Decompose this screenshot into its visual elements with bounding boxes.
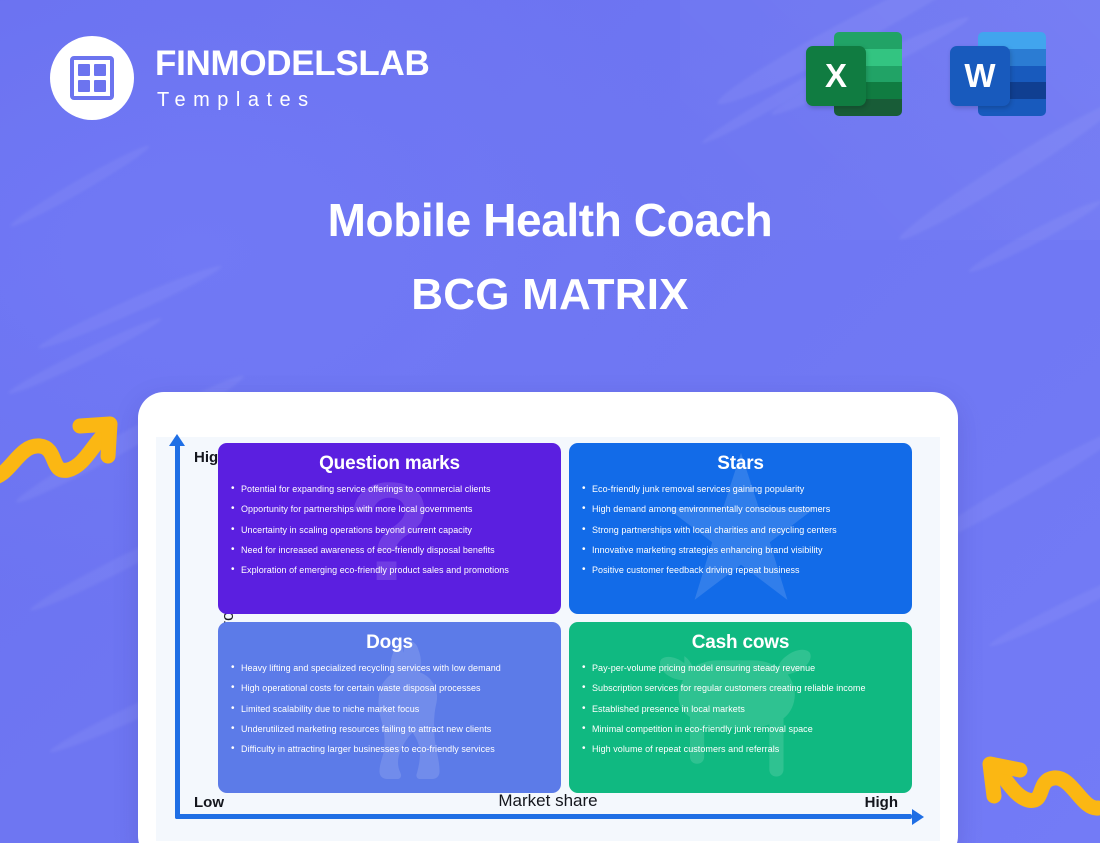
x-axis-arrowhead-icon (912, 809, 924, 825)
quadrant-bullet-list: Pay-per-volume pricing model ensuring st… (581, 663, 900, 755)
list-item: Exploration of emerging eco-friendly pro… (230, 565, 549, 575)
list-item: High volume of repeat customers and refe… (581, 744, 900, 754)
quadrant-bullet-list: Potential for expanding service offering… (230, 484, 549, 576)
brand-logo[interactable]: FINMODELSLAB Templates (50, 36, 429, 120)
list-item: Positive customer feedback driving repea… (581, 565, 900, 575)
quadrant-stars[interactable]: Stars Eco-friendly junk removal services… (569, 443, 912, 614)
list-item: Opportunity for partnerships with more l… (230, 504, 549, 514)
list-item: Strong partnerships with local charities… (581, 525, 900, 535)
brand-tagline: Templates (155, 90, 429, 110)
quadrants-grid: ? Question marks Potential for expanding… (218, 443, 912, 793)
x-axis-line (175, 814, 912, 819)
curvy-arrow-down-left-icon (976, 736, 1100, 831)
word-badge-letter: W (950, 46, 1010, 106)
quadrant-cash-cows[interactable]: Cash cows Pay-per-volume pricing model e… (569, 622, 912, 793)
list-item: High operational costs for certain waste… (230, 683, 549, 693)
list-item: Minimal competition in eco-friendly junk… (581, 724, 900, 734)
list-item: Subscription services for regular custom… (581, 683, 900, 693)
quadrant-title: Cash cows (581, 632, 900, 654)
curvy-arrow-up-right-icon (0, 404, 128, 499)
matrix-plot-area: High Low High Market growth Market share… (156, 437, 940, 841)
page-subtitle: BCG MATRIX (0, 270, 1100, 320)
title-block: Mobile Health Coach BCG MATRIX (0, 196, 1100, 320)
brush-stroke (986, 561, 1100, 652)
x-axis-label: Market share (156, 791, 940, 811)
list-item: High demand among environmentally consci… (581, 504, 900, 514)
list-item: Uncertainty in scaling operations beyond… (230, 525, 549, 535)
list-item: Difficulty in attracting larger business… (230, 744, 549, 754)
excel-badge-letter: X (806, 46, 866, 106)
list-item: Heavy lifting and specialized recycling … (230, 663, 549, 673)
quadrant-title: Dogs (230, 632, 549, 654)
quadrant-bullet-list: Heavy lifting and specialized recycling … (230, 663, 549, 755)
quadrant-question-marks[interactable]: ? Question marks Potential for expanding… (218, 443, 561, 614)
list-item: Established presence in local markets (581, 704, 900, 714)
list-item: Limited scalability due to niche market … (230, 704, 549, 714)
matrix-card: High Low High Market growth Market share… (138, 392, 958, 843)
excel-icon[interactable]: X (806, 28, 902, 120)
list-item: Innovative marketing strategies enhancin… (581, 545, 900, 555)
list-item: Underutilized marketing resources failin… (230, 724, 549, 734)
quadrant-title: Question marks (230, 453, 549, 475)
list-item: Pay-per-volume pricing model ensuring st… (581, 663, 900, 673)
word-icon[interactable]: W (950, 28, 1046, 120)
quadrant-title: Stars (581, 453, 900, 475)
list-item: Need for increased awareness of eco-frie… (230, 545, 549, 555)
logo-circle (50, 36, 134, 120)
y-axis-arrowhead-icon (169, 434, 185, 446)
list-item: Eco-friendly junk removal services gaini… (581, 484, 900, 494)
brand-name: FINMODELSLAB (155, 46, 429, 81)
list-item: Potential for expanding service offering… (230, 484, 549, 494)
grid-squares-icon (70, 56, 114, 100)
quadrant-bullet-list: Eco-friendly junk removal services gaini… (581, 484, 900, 576)
brand-text: FINMODELSLAB Templates (155, 46, 429, 110)
format-icons: X W (806, 28, 1046, 120)
y-axis-line (175, 443, 180, 819)
quadrant-dogs[interactable]: Dogs Heavy lifting and specialized recyc… (218, 622, 561, 793)
page-title: Mobile Health Coach (0, 196, 1100, 244)
